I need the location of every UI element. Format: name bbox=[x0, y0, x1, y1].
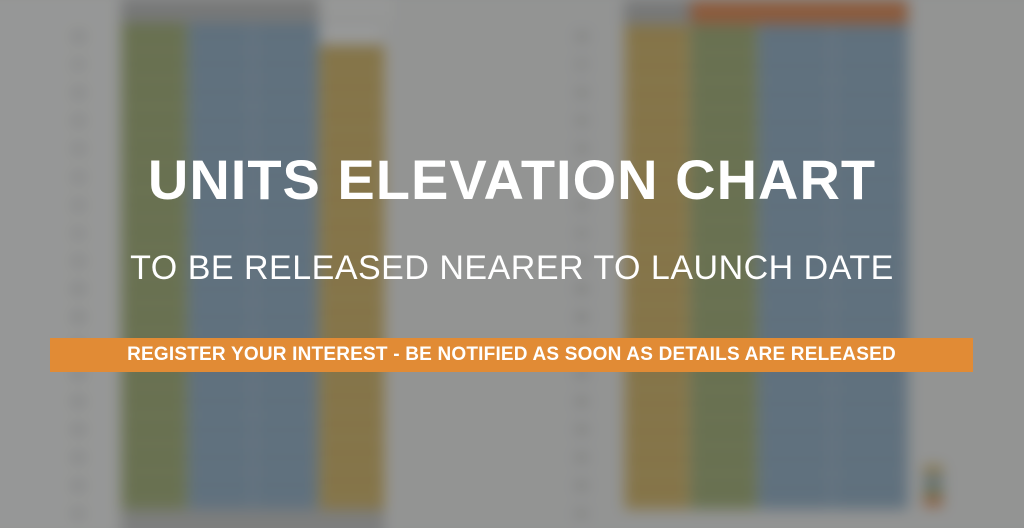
register-interest-button[interactable]: REGISTER YOUR INTEREST - BE NOTIFIED AS … bbox=[50, 338, 973, 372]
page-subtitle: TO BE RELEASED NEARER TO LAUNCH DATE bbox=[0, 249, 1024, 287]
overlay-content: UNITS ELEVATION CHART TO BE RELEASED NEA… bbox=[0, 0, 1024, 528]
register-interest-label: REGISTER YOUR INTEREST - BE NOTIFIED AS … bbox=[127, 344, 896, 366]
unit-elevation-chart-banner: 181716151413121110090807060504030201 181… bbox=[0, 0, 1024, 528]
page-title: UNITS ELEVATION CHART bbox=[0, 152, 1024, 208]
